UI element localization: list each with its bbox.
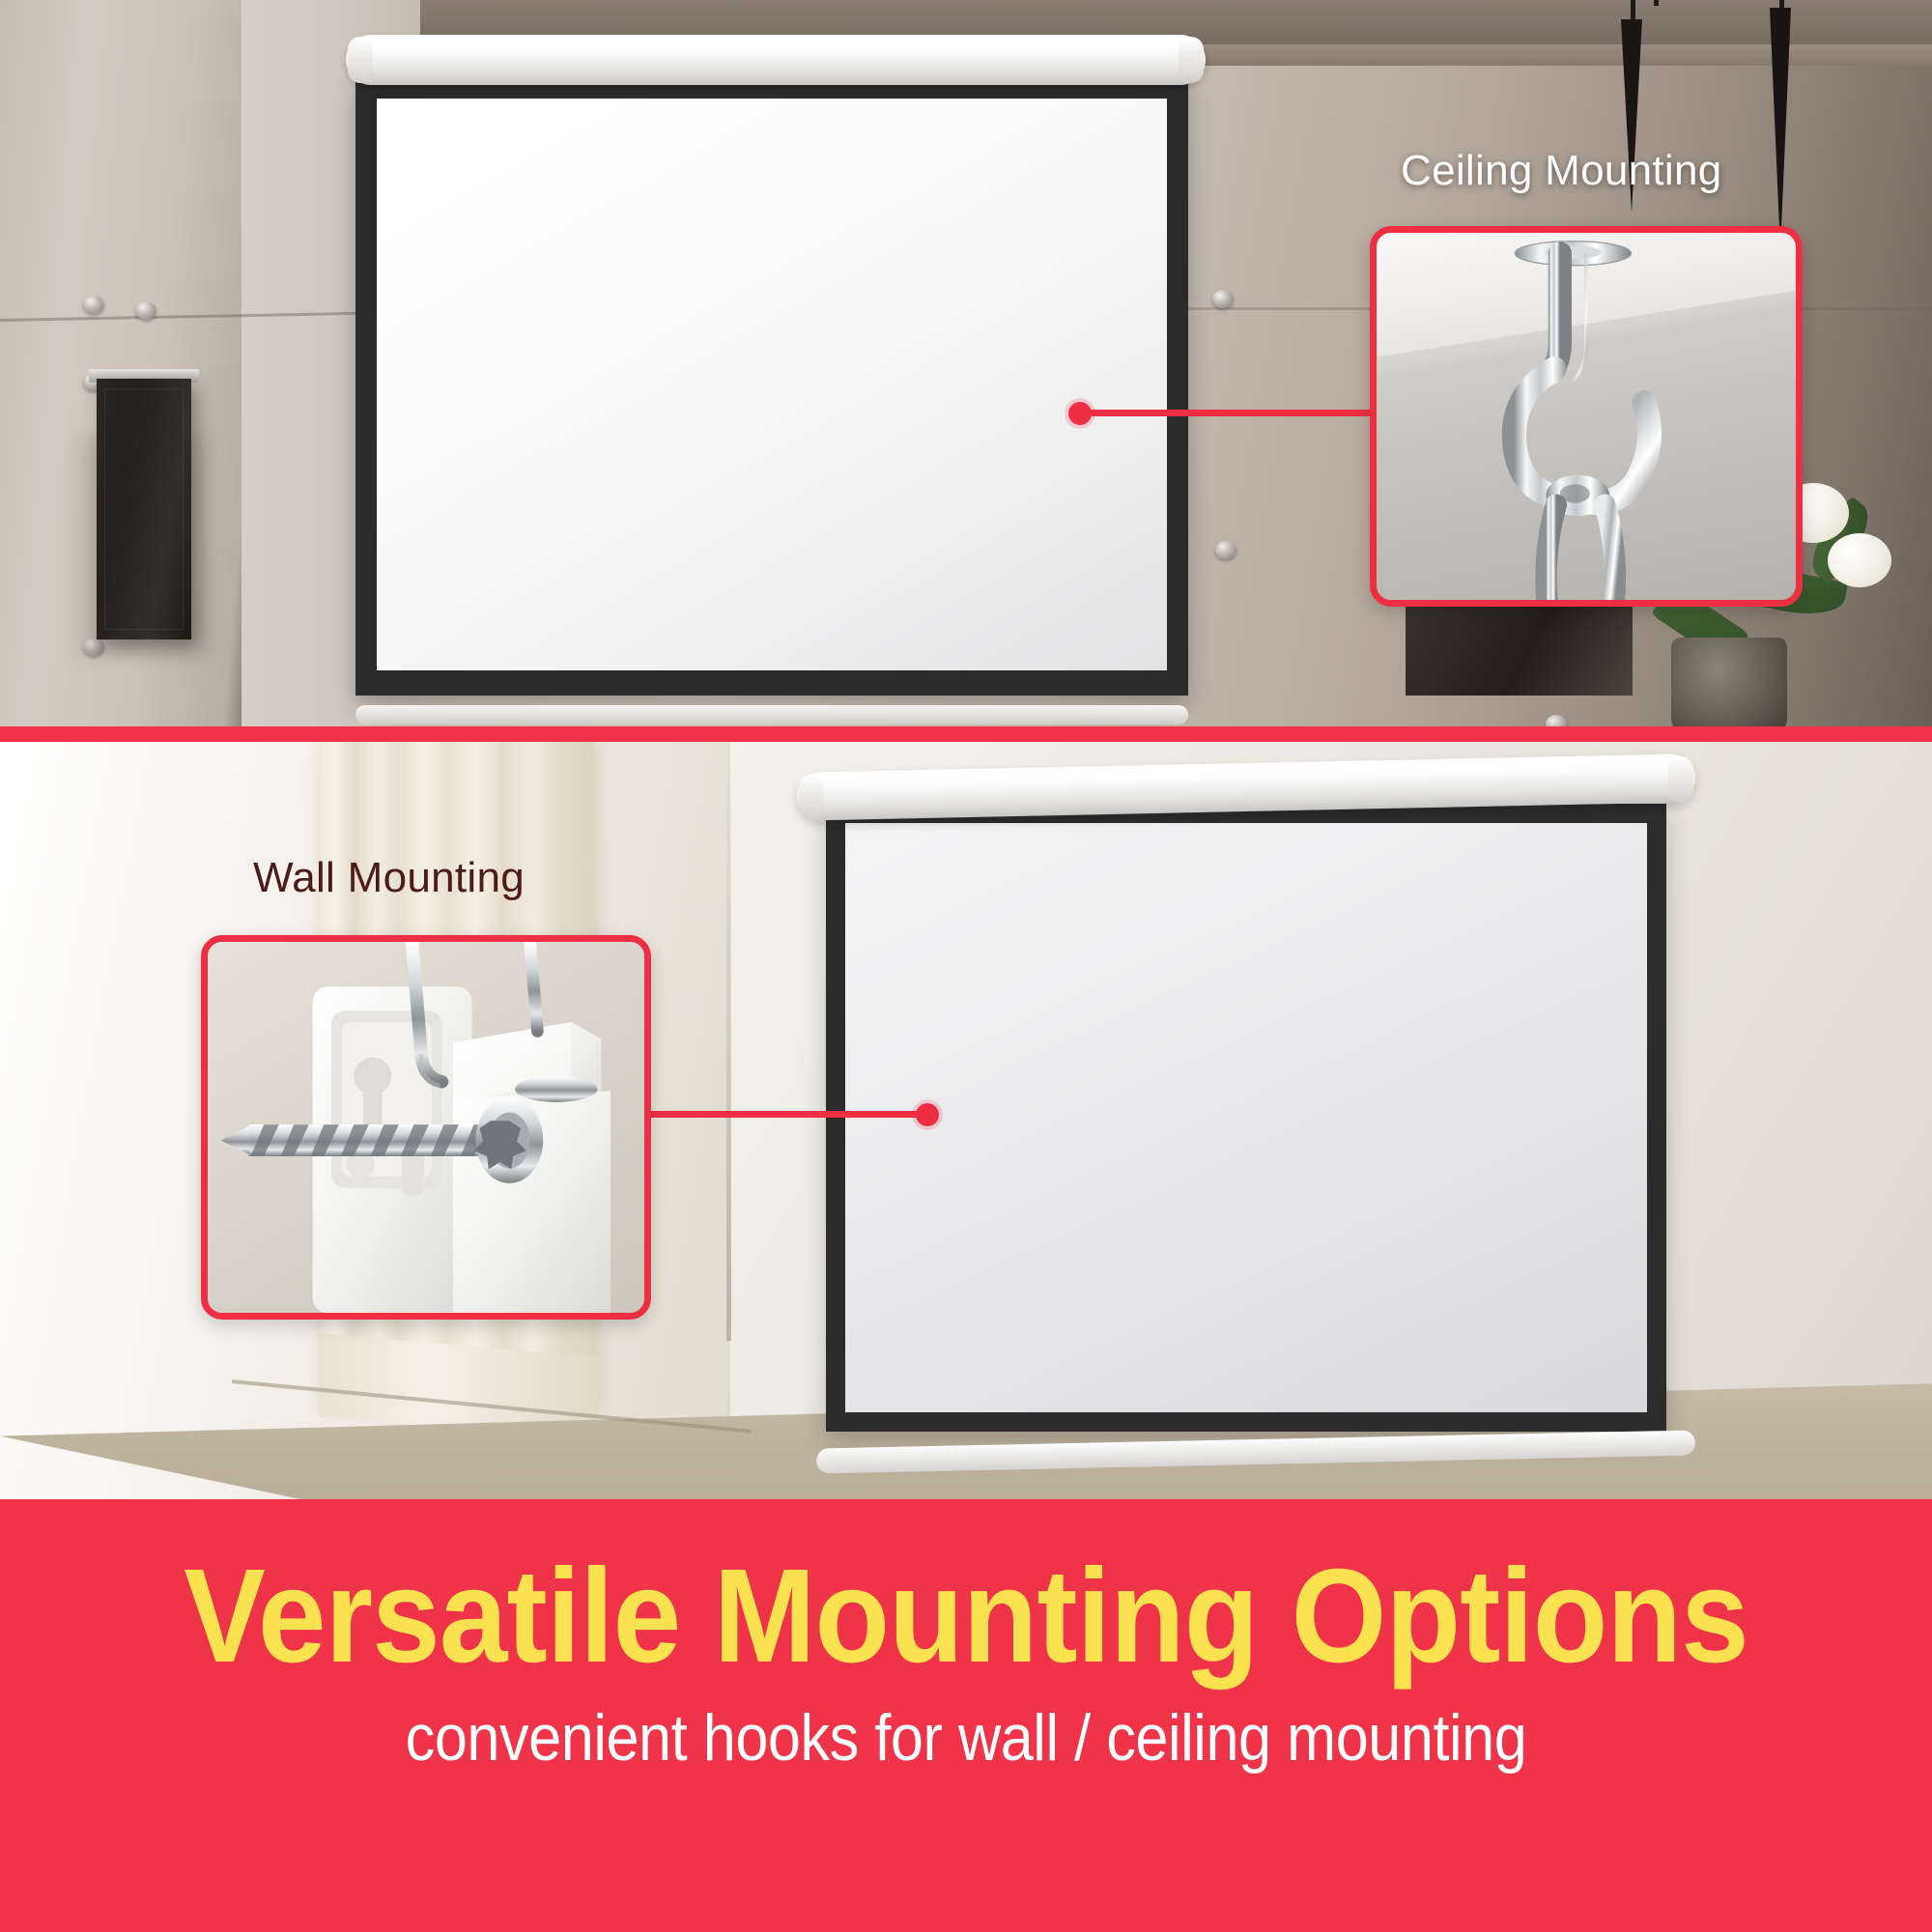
screen-surface <box>845 823 1647 1412</box>
roller-end-cap <box>799 774 825 821</box>
screen-frame <box>826 804 1666 1432</box>
wall-corner-edge <box>726 742 731 1341</box>
roller-end-cap <box>348 37 373 83</box>
banner-title: Versatile Mounting Options <box>77 1549 1855 1683</box>
callout-anchor-dot-ceiling <box>1068 402 1092 425</box>
callout-connector-line-ceiling <box>1090 410 1379 416</box>
ceiling-mounting-label: Ceiling Mounting <box>1401 147 1722 195</box>
screen-roller-casing <box>346 35 1206 85</box>
wall-mount-callout <box>201 935 651 1320</box>
wall-bracket-screw-icon <box>208 942 644 1313</box>
screen-frame <box>355 77 1188 696</box>
wall-mounting-label: Wall Mounting <box>253 854 525 902</box>
callout-connector-line-wall <box>643 1111 933 1118</box>
wall-bolt <box>135 301 156 320</box>
flower <box>1828 533 1891 587</box>
pendant-lamp <box>1770 8 1791 249</box>
banner-subtitle: convenient hooks for wall / ceiling moun… <box>97 1704 1835 1773</box>
flower-vase <box>1671 638 1787 732</box>
wall-bolt <box>83 296 104 314</box>
lamp-cord <box>1654 0 1659 6</box>
ceiling-mount-callout <box>1370 226 1803 607</box>
screen-bottom-bar <box>355 705 1188 724</box>
screen-bottom-bar <box>816 1430 1695 1473</box>
wall-speaker <box>97 379 191 639</box>
headline-banner: Versatile Mounting Options convenient ho… <box>0 1505 1932 1932</box>
ceiling-hook-icon <box>1377 233 1796 600</box>
screen-surface <box>377 99 1167 670</box>
projector-screen-ceiling-mounted <box>355 35 1188 711</box>
projector-screen-wall-mounted <box>826 763 1695 1507</box>
panel-divider-red-bar <box>0 726 1932 742</box>
roller-end-cap <box>1667 755 1693 803</box>
wall-bolt <box>1212 290 1234 308</box>
wall-cabinet <box>1406 591 1633 696</box>
wall-bolt <box>1215 541 1236 559</box>
callout-anchor-dot-wall <box>916 1103 939 1126</box>
product-feature-poster: Ceiling Mounting <box>0 0 1932 1932</box>
roller-end-cap <box>1179 37 1204 83</box>
